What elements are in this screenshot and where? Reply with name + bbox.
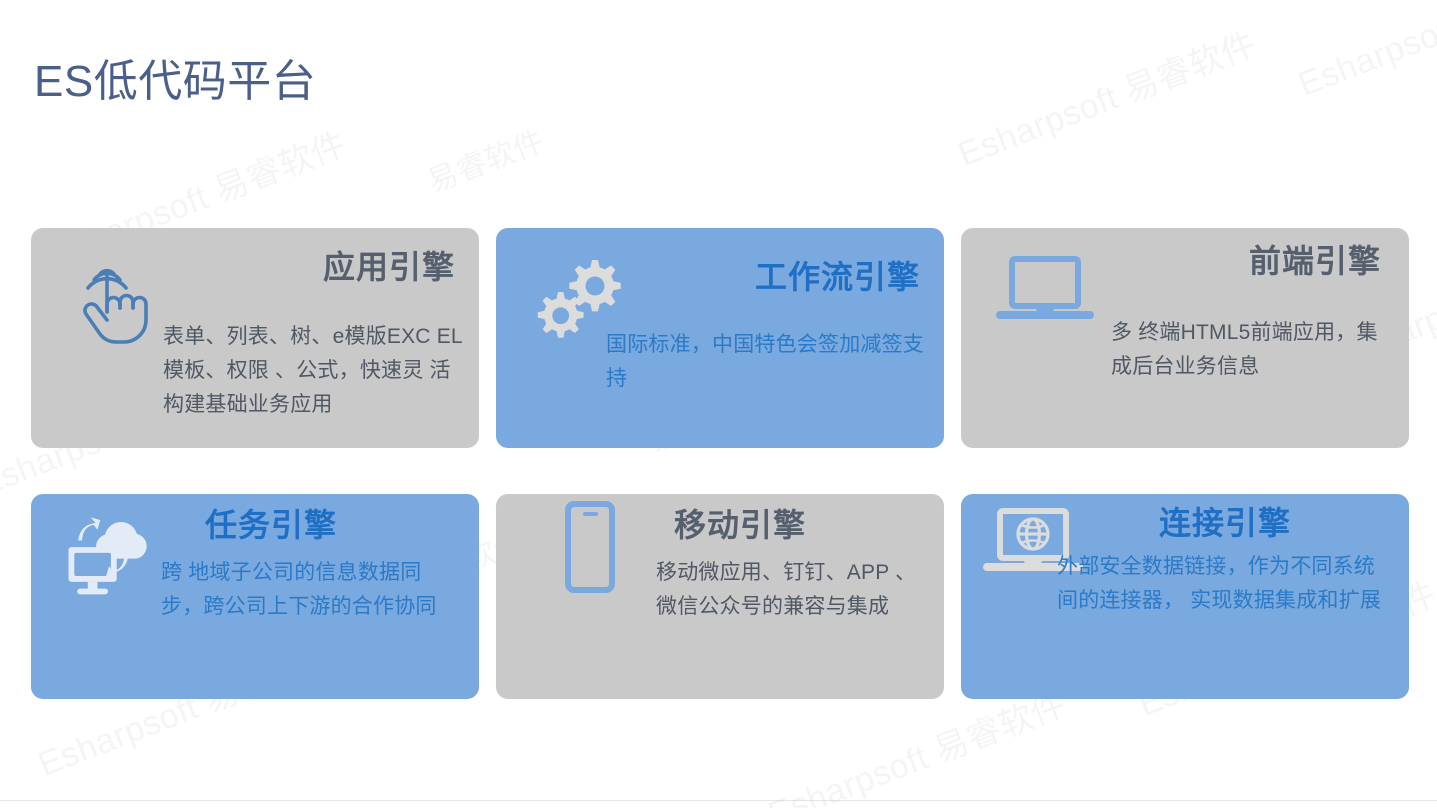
touch-tap-icon xyxy=(61,248,169,348)
engine-cards-grid: 应用引擎 表单、列表、树、e模版EXC EL模板、权限 、公式，快速灵 活构建基… xyxy=(31,228,1409,699)
watermark-text: 易睿软件 xyxy=(420,116,550,201)
watermark-text: Esharpsoft 易睿软件 xyxy=(1290,0,1437,106)
bottom-divider xyxy=(0,800,1437,801)
card-title: 应用引擎 xyxy=(323,248,455,286)
card-title: 前端引擎 xyxy=(1249,242,1381,280)
card-title: 任务引擎 xyxy=(205,506,337,544)
card-title: 连接引擎 xyxy=(1159,504,1291,542)
card-mobile-engine[interactable]: 移动引擎 移动微应用、钉钉、APP 、微信公众号的兼容与集成 xyxy=(496,494,944,699)
card-description: 外部安全数据链接，作为不同系统间的连接器， 实现数据集成和扩展 xyxy=(1057,550,1393,618)
card-description: 移动微应用、钉钉、APP 、微信公众号的兼容与集成 xyxy=(656,556,928,624)
card-description: 多 终端HTML5前端应用，集成后台业务信息 xyxy=(1111,316,1393,384)
card-workflow-engine[interactable]: 工作流引擎 国际标准，中国特色会签加减签支持 xyxy=(496,228,944,448)
card-app-engine[interactable]: 应用引擎 表单、列表、树、e模版EXC EL模板、权限 、公式，快速灵 活构建基… xyxy=(31,228,479,448)
laptop-icon xyxy=(991,242,1099,342)
card-task-engine[interactable]: 任务引擎 跨 地域子公司的信息数据同步，跨公司上下游的合作协同 xyxy=(31,494,479,699)
smartphone-icon xyxy=(536,498,644,598)
card-description: 国际标准，中国特色会签加减签支持 xyxy=(606,328,928,396)
card-title: 工作流引擎 xyxy=(755,258,920,296)
card-frontend-engine[interactable]: 前端引擎 多 终端HTML5前端应用，集成后台业务信息 xyxy=(961,228,1409,448)
card-connection-engine[interactable]: 连接引擎 外部安全数据链接，作为不同系统间的连接器， 实现数据集成和扩展 xyxy=(961,494,1409,699)
card-description: 跨 地域子公司的信息数据同步，跨公司上下游的合作协同 xyxy=(161,556,463,624)
page-title: ES低代码平台 xyxy=(34,45,316,109)
watermark-text: Esharpsoft 易睿软件 xyxy=(950,17,1262,176)
card-title: 移动引擎 xyxy=(674,506,806,544)
card-description: 表单、列表、树、e模版EXC EL模板、权限 、公式，快速灵 活构建基础业务应用 xyxy=(163,320,463,422)
cloud-sync-icon xyxy=(55,500,163,600)
